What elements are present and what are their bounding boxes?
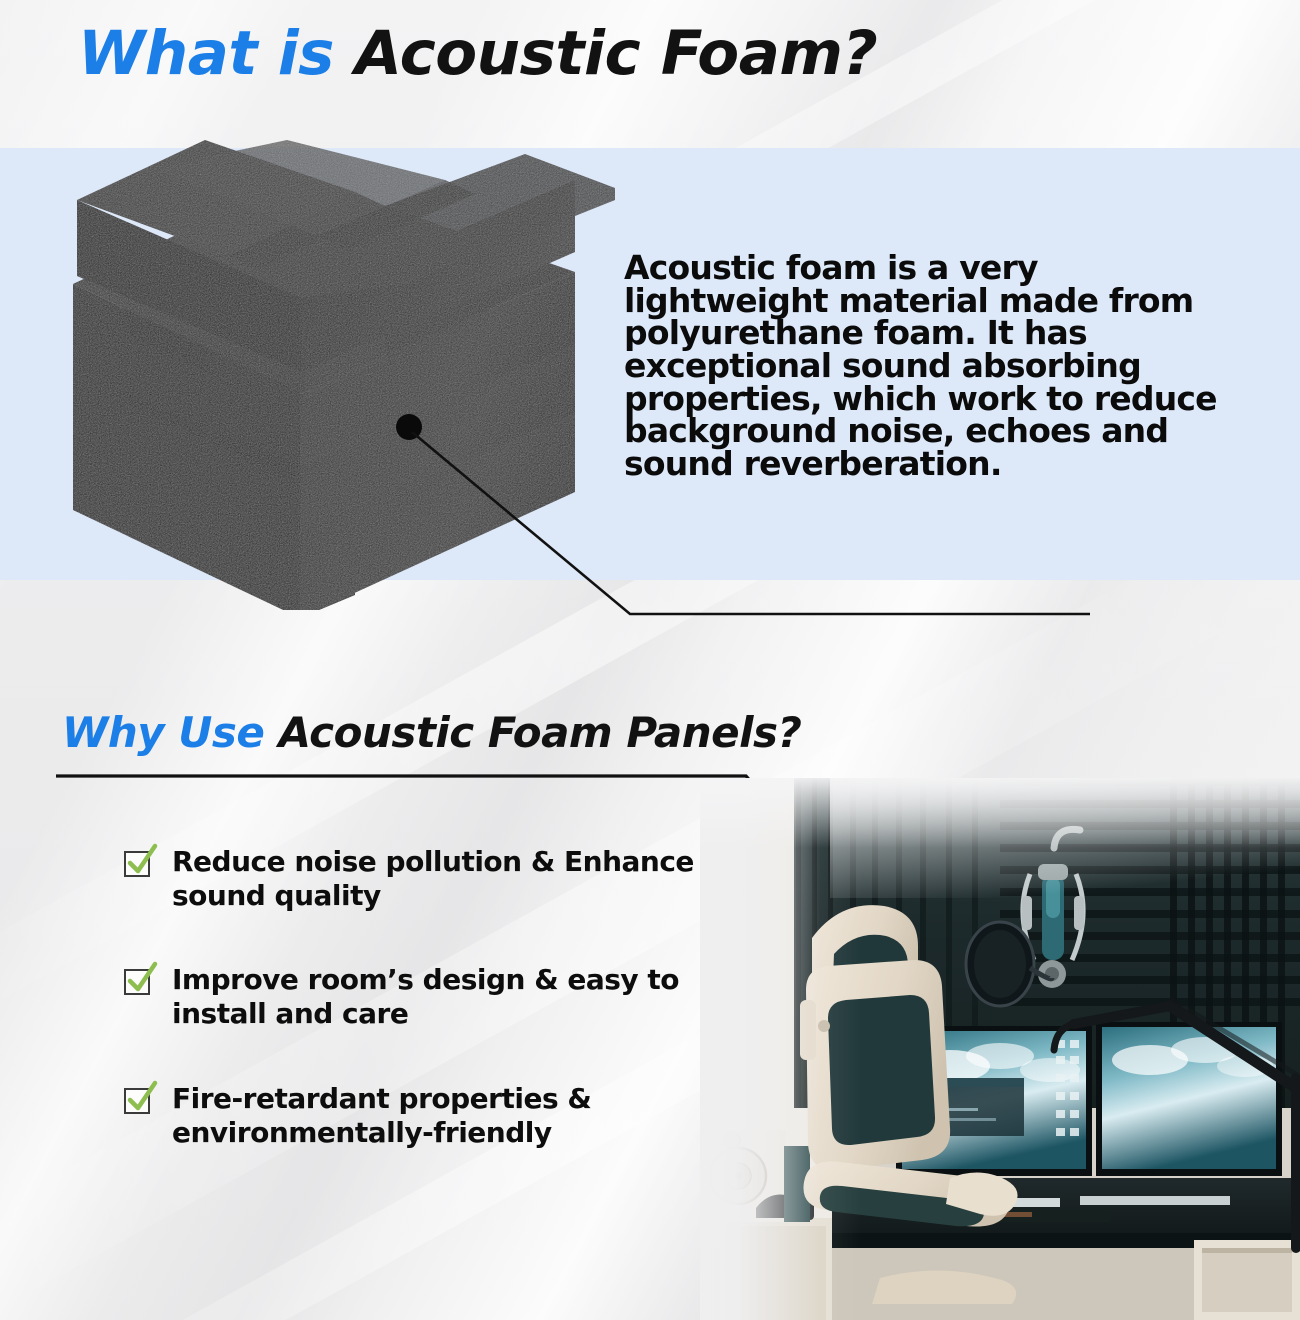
section-title: Why Use Acoustic Foam Panels?: [62, 708, 801, 757]
page-title-rest: Acoustic Foam?: [355, 18, 878, 89]
section-title-rest: Acoustic Foam Panels?: [278, 708, 801, 757]
checkmark-icon: [124, 967, 154, 997]
foam-stack-image: [55, 140, 615, 610]
studio-photo-svg: [700, 778, 1300, 1320]
section-title-accent: Why Use: [62, 708, 264, 757]
checkmark-icon: [124, 1086, 154, 1116]
foam-stack-svg: [55, 140, 615, 610]
checkmark-icon: [124, 849, 154, 879]
benefits-list: Reduce noise pollution & Enhance sound q…: [124, 845, 764, 1200]
benefit-item: Improve room’s design & easy to install …: [124, 963, 764, 1031]
intro-paragraph: Acoustic foam is a very lightweight mate…: [624, 252, 1224, 481]
page-title: What is Acoustic Foam?: [78, 18, 877, 89]
studio-photo: [700, 778, 1300, 1320]
benefit-label: Improve room’s design & easy to install …: [172, 963, 764, 1031]
benefit-item: Fire-retardant properties & environmenta…: [124, 1082, 764, 1150]
infographic-page: What is Acoustic Foam?: [0, 0, 1300, 1320]
benefit-label: Fire-retardant properties & environmenta…: [172, 1082, 764, 1150]
page-title-accent: What is: [78, 18, 334, 89]
benefit-item: Reduce noise pollution & Enhance sound q…: [124, 845, 764, 913]
callout-dot: [396, 414, 422, 440]
benefit-label: Reduce noise pollution & Enhance sound q…: [172, 845, 764, 913]
